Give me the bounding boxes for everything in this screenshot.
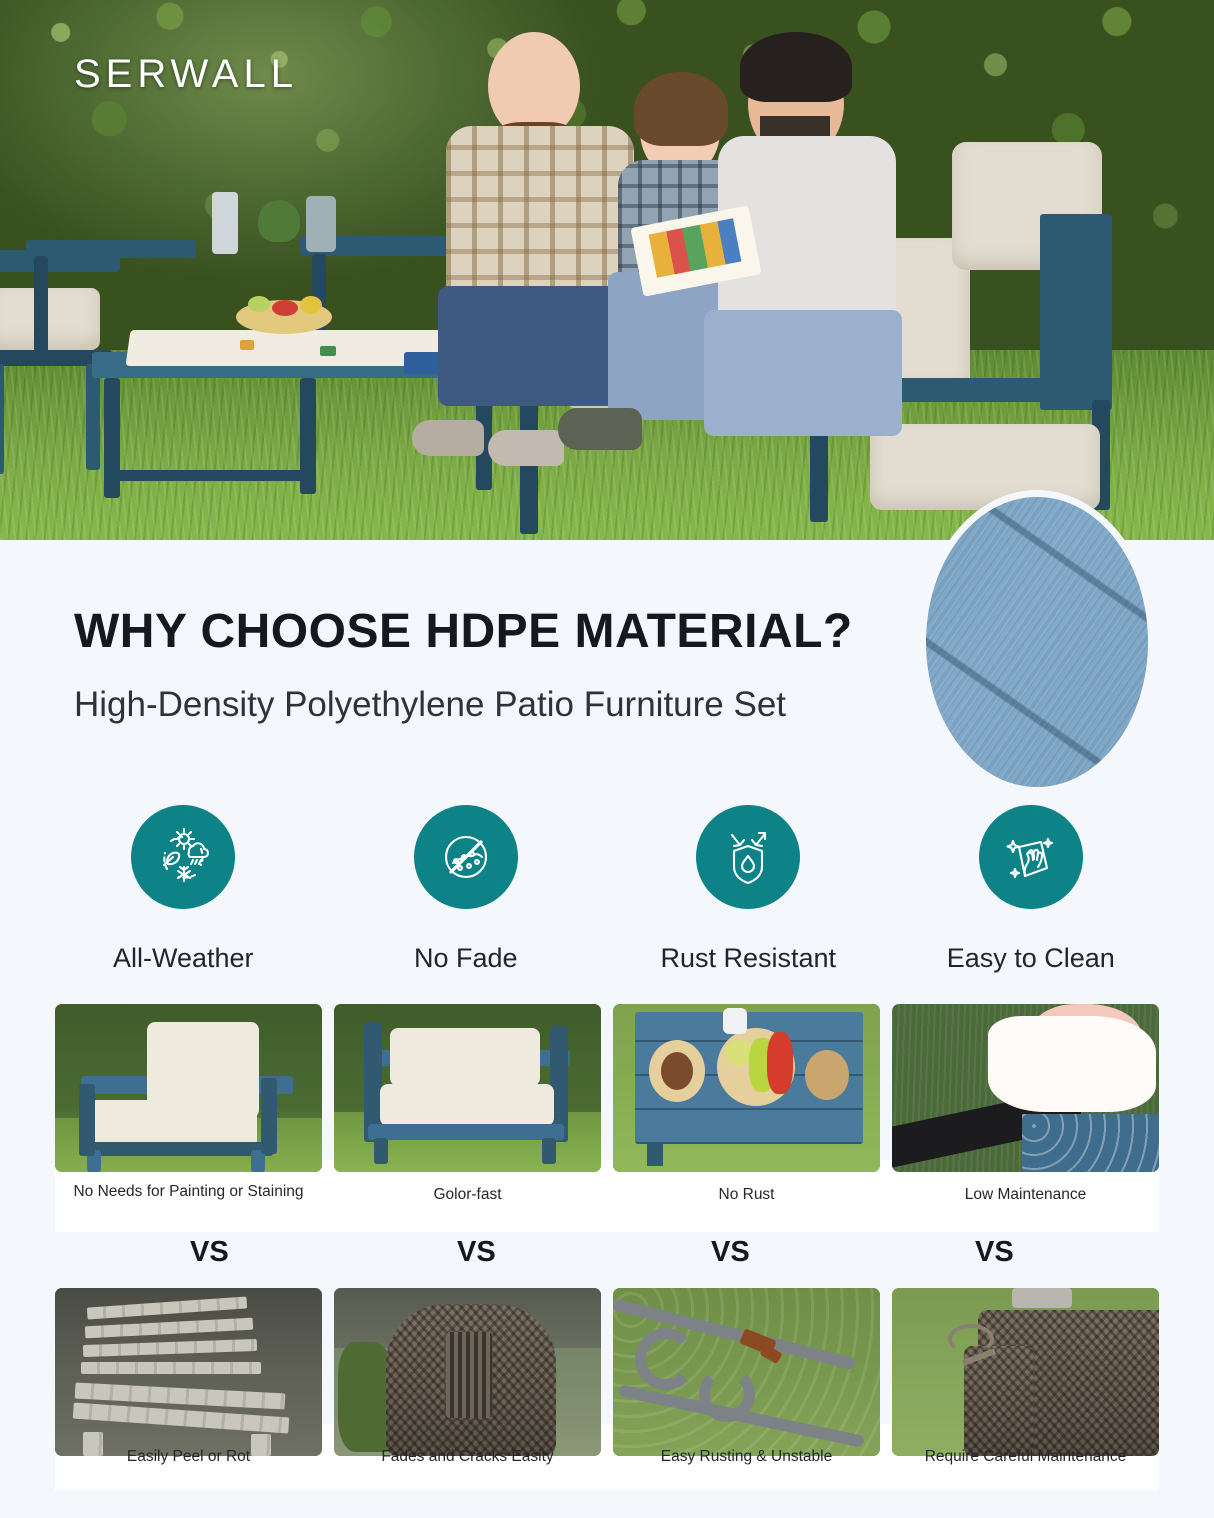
easy-to-clean-icon (999, 825, 1063, 889)
vs-separator: VS (975, 1236, 1014, 1269)
potted-plant (258, 200, 300, 242)
person-legs (704, 310, 902, 436)
cracked-damage (446, 1332, 492, 1418)
table-leg (300, 378, 316, 494)
pros-image-row (55, 1004, 1159, 1172)
water-droplets (1022, 1114, 1159, 1172)
cons-image-row (55, 1288, 1159, 1456)
comparison-cell (613, 1004, 880, 1172)
rust-resistant-icon (716, 825, 780, 889)
comparison-cell (55, 1004, 322, 1172)
con-caption: Easily Peel or Rot (55, 1448, 322, 1466)
wood-slat (81, 1362, 261, 1374)
family-group (430, 10, 900, 430)
pitcher (306, 196, 336, 252)
no-fade-icon (434, 825, 498, 889)
chair-leg (374, 1138, 388, 1164)
con-caption: Require Careful Maintenance (892, 1448, 1159, 1466)
chair-arm (26, 240, 196, 258)
iron-scroll (635, 1328, 697, 1390)
feature-list: All-Weather No Fade (42, 805, 1172, 974)
pro-caption: Golor-fast (334, 1186, 601, 1204)
person-legs (438, 286, 618, 406)
pro-caption: No Needs for Painting or Staining (55, 1183, 322, 1201)
iron-scroll (699, 1366, 755, 1422)
fruit (300, 296, 322, 314)
feature-easy-to-clean: Easy to Clean (890, 805, 1173, 974)
infographic-page: SERWALL WHY CHOOSE HDPE MATERIAL? High-D… (0, 0, 1214, 1518)
wicker-arm (964, 1346, 1034, 1456)
hero-image: SERWALL (0, 0, 1214, 540)
page-subtitle: High-Density Polyethylene Patio Furnitur… (74, 685, 786, 725)
vs-separator: VS (457, 1236, 496, 1269)
food (661, 1052, 693, 1090)
cushion (0, 288, 100, 350)
con-photo-fade-crack (334, 1288, 601, 1456)
chair-arm-post (79, 1084, 95, 1156)
fruit (248, 296, 270, 312)
chair-seat-rail (83, 1142, 273, 1156)
feature-icon-badge (979, 805, 1083, 909)
pro-caption: Low Maintenance (892, 1186, 1159, 1204)
feature-label: Rust Resistant (660, 943, 836, 974)
pro-photo-colorfast (334, 1004, 601, 1172)
table-leg (647, 1144, 663, 1166)
feature-icon-badge (414, 805, 518, 909)
shoe (488, 430, 564, 466)
pro-photo-no-rust (613, 1004, 880, 1172)
pro-photo-no-painting (55, 1004, 322, 1172)
chair-seat-rail (368, 1124, 564, 1140)
comparison-cell (334, 1004, 601, 1172)
chair-leg (0, 364, 4, 474)
feature-icon-badge (696, 805, 800, 909)
hair (740, 32, 852, 102)
vs-separator: VS (190, 1236, 229, 1269)
seat-cushion (380, 1084, 554, 1126)
table-stretcher (116, 470, 302, 481)
comparison-cell (892, 1004, 1159, 1172)
pro-caption: No Rust (613, 1186, 880, 1204)
seat-cushion (89, 1100, 257, 1148)
game-piece (240, 340, 254, 350)
feature-label: No Fade (414, 943, 518, 974)
all-weather-icon (151, 825, 215, 889)
sofa-arm-post (1040, 214, 1112, 410)
back-cushion (390, 1028, 540, 1086)
vs-separator: VS (711, 1236, 750, 1269)
feature-no-fade: No Fade (325, 805, 608, 974)
paving-stone (1012, 1288, 1072, 1308)
chair-leg (86, 364, 100, 470)
feature-rust-resistant: Rust Resistant (607, 805, 890, 974)
brand-logo: SERWALL (74, 52, 298, 97)
cleaning-cloth (988, 1016, 1156, 1112)
feature-label: All-Weather (113, 943, 254, 974)
lantern (212, 192, 238, 254)
chair-leg (34, 256, 48, 352)
chair-leg (542, 1138, 556, 1164)
chair-arm-post (261, 1078, 277, 1154)
pro-photo-low-maintenance (892, 1004, 1159, 1172)
plank-seam (926, 497, 1148, 675)
cherries (767, 1032, 793, 1094)
con-photo-rusting (613, 1288, 880, 1456)
con-photo-careful-maintenance (892, 1288, 1159, 1456)
material-texture-swatch (926, 497, 1148, 787)
plank-seam (926, 584, 1148, 787)
fruit (272, 300, 298, 316)
con-caption: Fades and Cracks Easity (334, 1448, 601, 1466)
comparison-cell (892, 1288, 1159, 1456)
feature-icon-badge (131, 805, 235, 909)
feature-label: Easy to Clean (947, 943, 1115, 974)
con-caption: Easy Rusting & Unstable (613, 1448, 880, 1466)
comparison-cell (55, 1288, 322, 1456)
hair (634, 72, 728, 146)
feature-all-weather: All-Weather (42, 805, 325, 974)
swatch-texture (926, 497, 1148, 787)
page-title: WHY CHOOSE HDPE MATERIAL? (74, 604, 853, 659)
game-piece (320, 346, 336, 356)
comparison-cell (334, 1288, 601, 1456)
shoe (412, 420, 484, 456)
plaid-pattern (446, 126, 634, 306)
comparison-cell (613, 1288, 880, 1456)
con-photo-peel-rot (55, 1288, 322, 1456)
teapot (723, 1008, 747, 1034)
bread-board (805, 1050, 849, 1100)
shoe (558, 408, 642, 450)
